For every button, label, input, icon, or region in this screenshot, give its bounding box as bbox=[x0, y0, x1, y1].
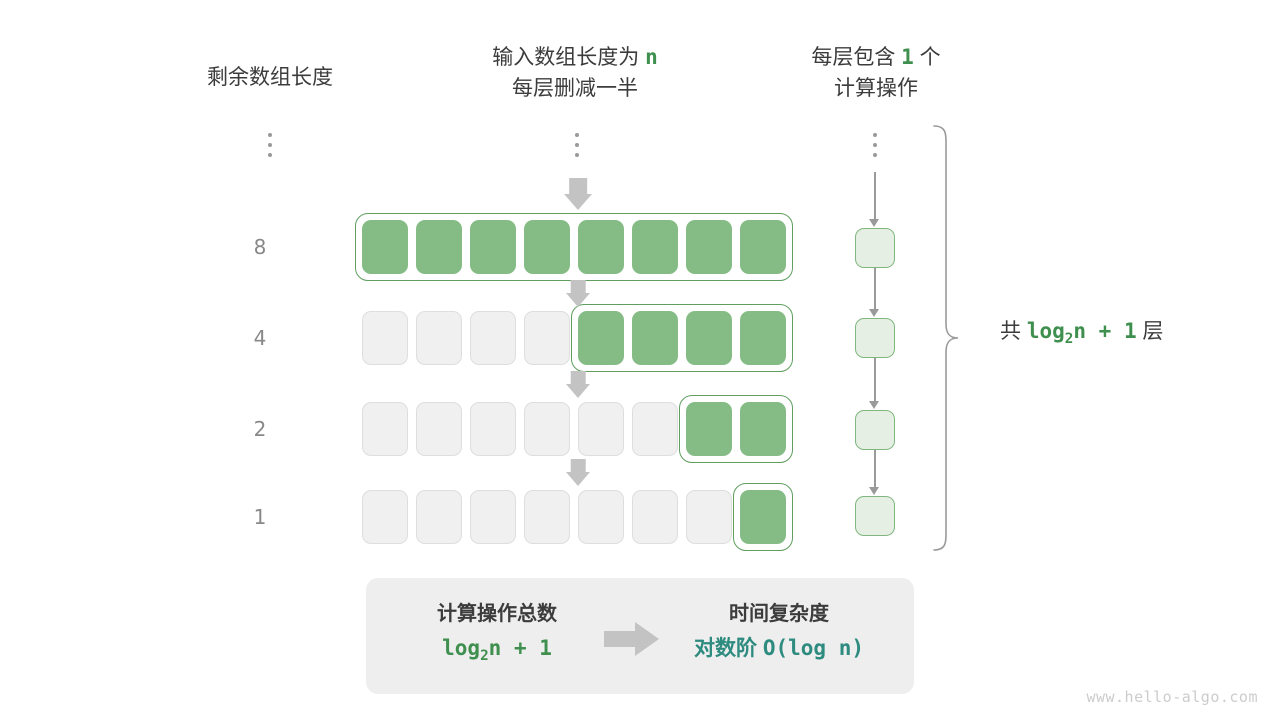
header-remaining-array-length: 剩余数组长度 bbox=[150, 62, 390, 93]
array-cell-active bbox=[578, 311, 624, 365]
array-cells bbox=[362, 307, 794, 369]
header-input-array: 输入数组长度为 n 每层删减一半 bbox=[455, 42, 695, 104]
row-length-label: 1 bbox=[230, 486, 290, 548]
brace-prefix: 共 bbox=[1000, 320, 1027, 343]
array-cell-inactive bbox=[416, 490, 462, 544]
ellipsis-left bbox=[263, 133, 277, 157]
level-down-arrow-icon bbox=[561, 178, 595, 210]
header-mid-line1: 输入数组长度为 n bbox=[455, 42, 695, 73]
array-cell-active bbox=[686, 311, 732, 365]
array-cells bbox=[362, 486, 794, 548]
summary-total-operations: 计算操作总数 log2n + 1 bbox=[382, 598, 612, 674]
array-cell-inactive bbox=[416, 311, 462, 365]
array-cell-active bbox=[416, 220, 462, 274]
row-length-label: 8 bbox=[230, 216, 290, 278]
array-cell-inactive bbox=[578, 490, 624, 544]
array-cell-inactive bbox=[362, 490, 408, 544]
summary-right-title: 时间复杂度 bbox=[664, 598, 894, 630]
diagram-canvas: 剩余数组长度 输入数组长度为 n 每层删减一半 每层包含 1 个 计算操作 84… bbox=[0, 0, 1280, 720]
header-right-line1: 每层包含 1 个 bbox=[756, 42, 996, 73]
operation-connector-arrow-icon bbox=[869, 401, 879, 409]
levels-brace bbox=[930, 124, 970, 552]
level-down-arrow-icon bbox=[564, 280, 592, 307]
summary-left-value-base: log bbox=[442, 636, 480, 660]
array-row: 2 bbox=[0, 398, 1280, 460]
array-cell-active bbox=[686, 402, 732, 456]
operation-box bbox=[855, 228, 895, 268]
array-cell-active bbox=[362, 220, 408, 274]
array-cell-inactive bbox=[524, 402, 570, 456]
header-right-accent-1: 1 bbox=[901, 45, 914, 69]
right-arrow-icon bbox=[604, 622, 666, 656]
array-cell-active bbox=[740, 311, 786, 365]
operation-connector-line bbox=[874, 268, 876, 310]
summary-left-value-sub: 2 bbox=[480, 648, 489, 664]
header-mid-line1-prefix: 输入数组长度为 bbox=[492, 46, 645, 69]
operation-connector-line bbox=[874, 172, 876, 220]
array-cell-active bbox=[632, 220, 678, 274]
array-cell-inactive bbox=[686, 490, 732, 544]
array-cell-inactive bbox=[470, 402, 516, 456]
operation-box bbox=[855, 410, 895, 450]
array-cell-inactive bbox=[524, 490, 570, 544]
ellipsis-right bbox=[868, 133, 882, 157]
array-cell-active bbox=[578, 220, 624, 274]
header-mid-line2: 每层删减一半 bbox=[455, 73, 695, 104]
summary-right-value: 对数阶 O(log n) bbox=[664, 630, 894, 667]
ellipsis-middle bbox=[570, 133, 584, 157]
watermark: www.hello-algo.com bbox=[1086, 688, 1258, 706]
array-cell-inactive bbox=[632, 402, 678, 456]
row-length-label: 4 bbox=[230, 307, 290, 369]
operation-connector-arrow-icon bbox=[869, 219, 879, 227]
summary-right-value-cn: 对数阶 bbox=[694, 637, 763, 660]
levels-brace-label: 共 log2n + 1 层 bbox=[1000, 315, 1163, 347]
array-cell-active bbox=[470, 220, 516, 274]
brace-formula-rest: n + 1 bbox=[1073, 319, 1136, 343]
header-operations-per-level: 每层包含 1 个 计算操作 bbox=[756, 42, 996, 104]
header-right-line1-suffix: 个 bbox=[914, 46, 941, 69]
operation-connector-arrow-icon bbox=[869, 487, 879, 495]
level-down-arrow-icon bbox=[564, 371, 592, 398]
summary-left-value-rest: n + 1 bbox=[489, 636, 552, 660]
summary-time-complexity: 时间复杂度 对数阶 O(log n) bbox=[664, 598, 894, 667]
operation-connector-line bbox=[874, 450, 876, 488]
array-cell-inactive bbox=[362, 311, 408, 365]
operation-box bbox=[855, 318, 895, 358]
array-cell-inactive bbox=[470, 311, 516, 365]
array-cell-active bbox=[632, 311, 678, 365]
array-cell-active bbox=[740, 402, 786, 456]
brace-suffix: 层 bbox=[1137, 320, 1164, 343]
summary-left-value: log2n + 1 bbox=[382, 630, 612, 674]
brace-formula-base: log bbox=[1027, 319, 1065, 343]
operation-connector-line bbox=[874, 358, 876, 402]
level-down-arrow-icon bbox=[564, 459, 592, 486]
array-cell-active bbox=[740, 490, 786, 544]
array-cell-inactive bbox=[524, 311, 570, 365]
array-cells bbox=[362, 216, 794, 278]
array-cell-active bbox=[686, 220, 732, 274]
operation-connector-arrow-icon bbox=[869, 309, 879, 317]
array-cell-inactive bbox=[416, 402, 462, 456]
array-cell-inactive bbox=[362, 402, 408, 456]
header-right-line2: 计算操作 bbox=[756, 73, 996, 104]
operation-box bbox=[855, 496, 895, 536]
summary-right-value-mono: O(log n) bbox=[763, 636, 864, 660]
array-cell-inactive bbox=[632, 490, 678, 544]
array-row: 1 bbox=[0, 486, 1280, 548]
array-cell-active bbox=[740, 220, 786, 274]
summary-left-title: 计算操作总数 bbox=[382, 598, 612, 630]
array-cells bbox=[362, 398, 794, 460]
array-row: 8 bbox=[0, 216, 1280, 278]
header-left-text: 剩余数组长度 bbox=[207, 66, 333, 89]
array-cell-inactive bbox=[578, 402, 624, 456]
array-cell-active bbox=[524, 220, 570, 274]
header-right-line1-prefix: 每层包含 bbox=[811, 46, 901, 69]
brace-formula: log2n + 1 bbox=[1027, 319, 1137, 343]
array-cell-inactive bbox=[470, 490, 516, 544]
summary-panel: 计算操作总数 log2n + 1 时间复杂度 对数阶 O(log n) bbox=[366, 578, 914, 694]
row-length-label: 2 bbox=[230, 398, 290, 460]
header-mid-accent-n: n bbox=[645, 45, 658, 69]
